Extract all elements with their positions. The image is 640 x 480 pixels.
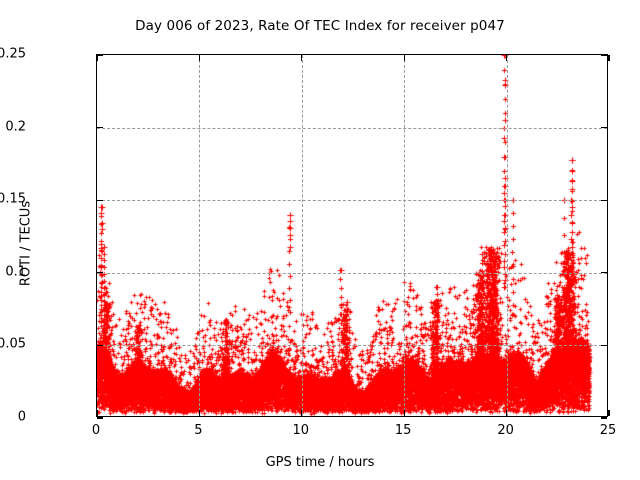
- gridline-vertical: [302, 55, 303, 416]
- gridline-vertical: [199, 55, 200, 416]
- x-axis-tick: [301, 55, 302, 61]
- y-axis-tick: [601, 272, 607, 273]
- x-axis-tick-label: 10: [293, 423, 310, 438]
- x-axis-tick: [96, 55, 97, 61]
- gridline-vertical: [507, 55, 508, 416]
- x-axis-tick-label: 25: [600, 423, 617, 438]
- x-axis-tick: [301, 410, 302, 416]
- chart-root: Day 006 of 2023, Rate Of TEC Index for r…: [0, 0, 640, 480]
- y-axis-tick: [97, 127, 103, 128]
- y-axis-tick-label: 0.15: [0, 192, 26, 207]
- x-axis-tick-label: 20: [497, 423, 514, 438]
- plot-area: [96, 54, 608, 417]
- y-axis-tick-label: 0.25: [0, 47, 26, 62]
- gridline-horizontal: [97, 273, 607, 274]
- x-axis-tick: [199, 55, 200, 61]
- y-axis-tick: [97, 272, 103, 273]
- x-axis-tick: [404, 55, 405, 61]
- y-axis-title: ROTI / TECUs: [19, 154, 34, 334]
- y-axis-tick-label: 0.05: [0, 337, 26, 352]
- x-axis-tick-label: 5: [194, 423, 202, 438]
- x-axis-tick: [199, 410, 200, 416]
- y-axis-tick: [601, 54, 607, 55]
- y-axis-tick: [97, 345, 103, 346]
- y-axis-tick: [97, 417, 103, 418]
- gridline-horizontal: [97, 200, 607, 201]
- y-axis-tick: [97, 200, 103, 201]
- y-axis-tick: [601, 345, 607, 346]
- y-axis-tick: [601, 200, 607, 201]
- x-axis-tick: [96, 410, 97, 416]
- x-axis-tick: [506, 55, 507, 61]
- y-axis-tick: [601, 417, 607, 418]
- x-axis-tick: [608, 410, 609, 416]
- x-axis-tick: [506, 410, 507, 416]
- chart-title: Day 006 of 2023, Rate Of TEC Index for r…: [0, 18, 640, 34]
- y-axis-tick: [97, 54, 103, 55]
- scatter-canvas: [97, 55, 609, 418]
- gridline-vertical: [404, 55, 405, 416]
- y-axis-tick: [601, 127, 607, 128]
- x-axis-title: GPS time / hours: [0, 455, 640, 470]
- x-axis-tick-label: 15: [395, 423, 412, 438]
- gridline-horizontal: [97, 345, 607, 346]
- x-axis-tick: [608, 55, 609, 61]
- y-axis-tick-label: 0.1: [5, 264, 26, 279]
- y-axis-tick-label: 0.2: [5, 119, 26, 134]
- x-axis-tick-label: 0: [92, 423, 100, 438]
- y-axis-tick-label: 0: [18, 410, 26, 425]
- gridline-horizontal: [97, 128, 607, 129]
- x-axis-tick: [404, 410, 405, 416]
